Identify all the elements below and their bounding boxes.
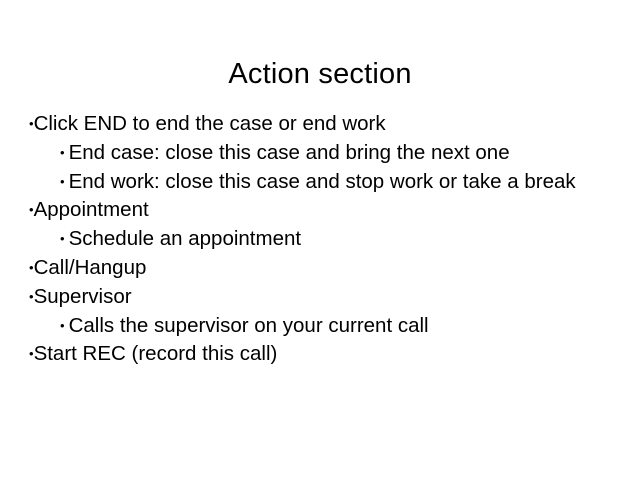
list-item-label: Schedule an appointment bbox=[69, 227, 302, 250]
presentation-slide: Action section •Click END to end the cas… bbox=[0, 0, 640, 480]
list-item: •End work: close this case and stop work… bbox=[45, 168, 619, 197]
list-item-label: Start REC (record this call) bbox=[34, 342, 278, 365]
list-item: •Supervisor bbox=[29, 283, 619, 312]
list-item: •Click END to end the case or end work bbox=[29, 110, 619, 139]
page-title: Action section bbox=[0, 57, 640, 91]
bullet-icon: • bbox=[60, 145, 69, 160]
list-item: •Call/Hangup bbox=[29, 254, 619, 283]
list-item: •Start REC (record this call) bbox=[29, 340, 619, 369]
bullet-icon: • bbox=[60, 318, 69, 333]
list-item-label: Calls the supervisor on your current cal… bbox=[69, 314, 429, 337]
list-item-label: Appointment bbox=[34, 198, 149, 221]
list-item-label: Call/Hangup bbox=[34, 256, 147, 279]
list-item-label: Click END to end the case or end work bbox=[34, 112, 386, 135]
list-item: •Appointment bbox=[29, 196, 619, 225]
list-item-label: End case: close this case and bring the … bbox=[69, 141, 510, 164]
bullet-list: •Click END to end the case or end work •… bbox=[29, 110, 619, 369]
list-item: •End case: close this case and bring the… bbox=[45, 139, 619, 168]
list-item: •Calls the supervisor on your current ca… bbox=[45, 312, 619, 341]
list-item-label: Supervisor bbox=[34, 285, 132, 308]
bullet-icon: • bbox=[60, 174, 69, 189]
bullet-icon: • bbox=[60, 231, 69, 246]
list-item-label: End work: close this case and stop work … bbox=[69, 170, 576, 193]
list-item: •Schedule an appointment bbox=[45, 225, 619, 254]
